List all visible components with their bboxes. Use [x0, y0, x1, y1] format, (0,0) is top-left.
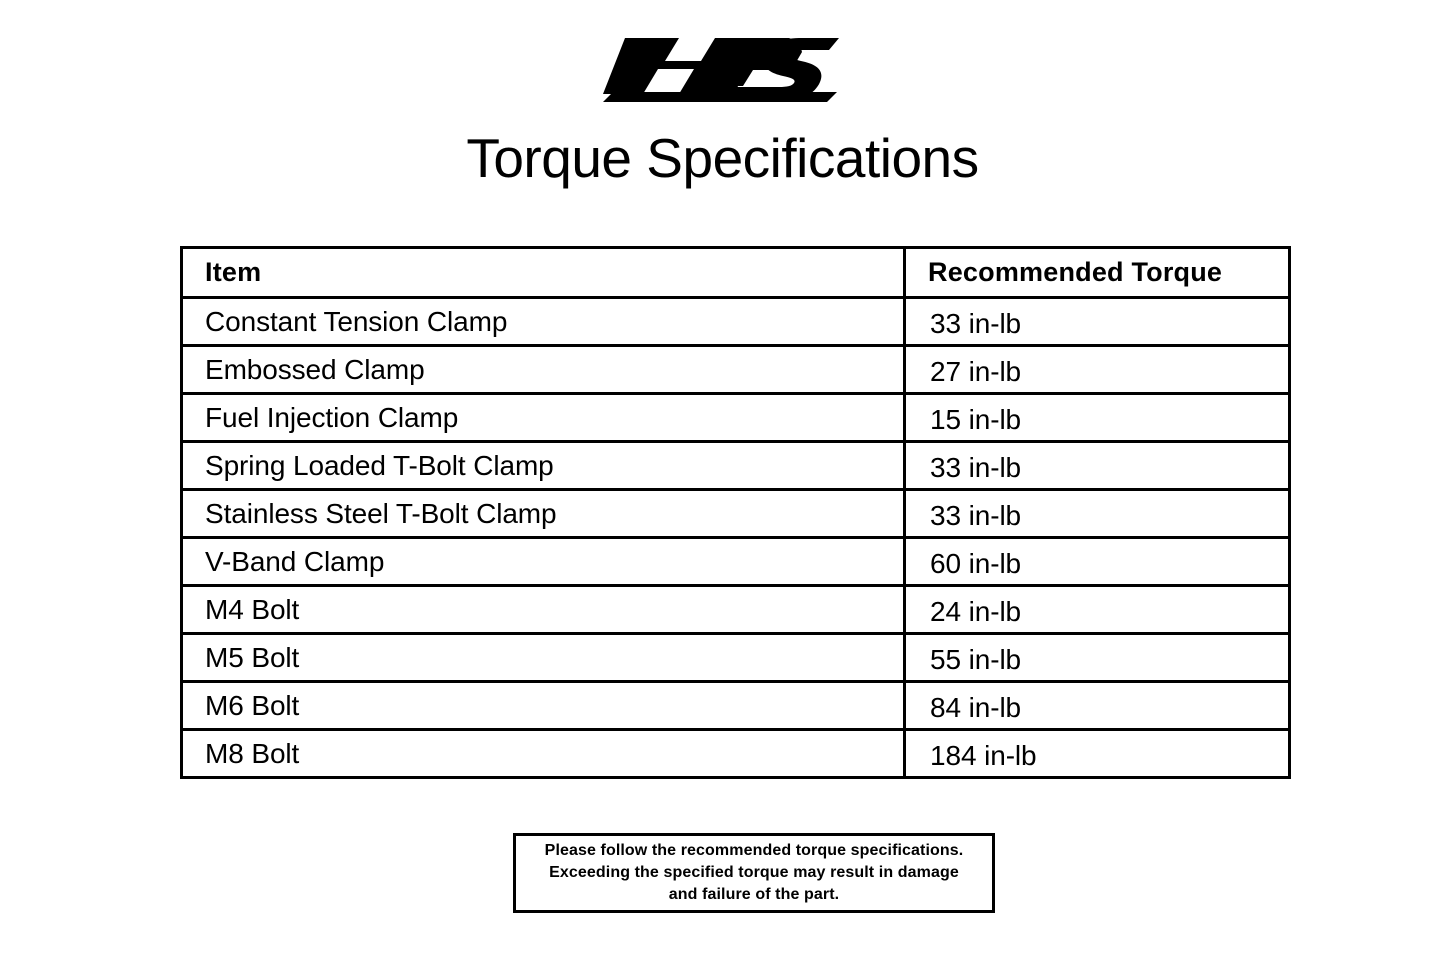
item-cell: M8 Bolt [182, 730, 905, 778]
item-cell: V-Band Clamp [182, 538, 905, 586]
table-row: M6 Bolt 84 in-lb [182, 682, 1290, 730]
item-cell: Embossed Clamp [182, 346, 905, 394]
torque-cell: 27 in-lb [905, 346, 1290, 394]
table-row: Constant Tension Clamp 33 in-lb [182, 298, 1290, 346]
note-line: and failure of the part. [669, 884, 839, 906]
item-cell: M4 Bolt [182, 586, 905, 634]
torque-specifications-table: Item Recommended Torque Constant Tension… [180, 246, 1291, 779]
item-cell: Spring Loaded T-Bolt Clamp [182, 442, 905, 490]
item-cell: Fuel Injection Clamp [182, 394, 905, 442]
torque-cell: 33 in-lb [905, 298, 1290, 346]
item-cell: Constant Tension Clamp [182, 298, 905, 346]
warning-note-box: Please follow the recommended torque spe… [513, 833, 995, 913]
table-row: Embossed Clamp 27 in-lb [182, 346, 1290, 394]
table-header-row: Item Recommended Torque [182, 248, 1290, 298]
table-row: V-Band Clamp 60 in-lb [182, 538, 1290, 586]
table-row: M4 Bolt 24 in-lb [182, 586, 1290, 634]
torque-cell: 15 in-lb [905, 394, 1290, 442]
column-header-recommended-torque: Recommended Torque [905, 248, 1290, 298]
table-row: M5 Bolt 55 in-lb [182, 634, 1290, 682]
torque-cell: 84 in-lb [905, 682, 1290, 730]
table-row: Stainless Steel T-Bolt Clamp 33 in-lb [182, 490, 1290, 538]
table-row: Spring Loaded T-Bolt Clamp 33 in-lb [182, 442, 1290, 490]
note-line: Please follow the recommended torque spe… [545, 840, 964, 862]
torque-cell: 184 in-lb [905, 730, 1290, 778]
brand-logo [0, 36, 1445, 108]
torque-cell: 33 in-lb [905, 442, 1290, 490]
torque-cell: 33 in-lb [905, 490, 1290, 538]
item-cell: Stainless Steel T-Bolt Clamp [182, 490, 905, 538]
page-title: Torque Specifications [0, 128, 1445, 189]
item-cell: M6 Bolt [182, 682, 905, 730]
torque-cell: 55 in-lb [905, 634, 1290, 682]
table-row: Fuel Injection Clamp 15 in-lb [182, 394, 1290, 442]
table-row: M8 Bolt 184 in-lb [182, 730, 1290, 778]
item-cell: M5 Bolt [182, 634, 905, 682]
torque-cell: 24 in-lb [905, 586, 1290, 634]
note-line: Exceeding the specified torque may resul… [549, 862, 959, 884]
column-header-item: Item [182, 248, 905, 298]
hps-logo-icon [603, 36, 843, 102]
torque-cell: 60 in-lb [905, 538, 1290, 586]
